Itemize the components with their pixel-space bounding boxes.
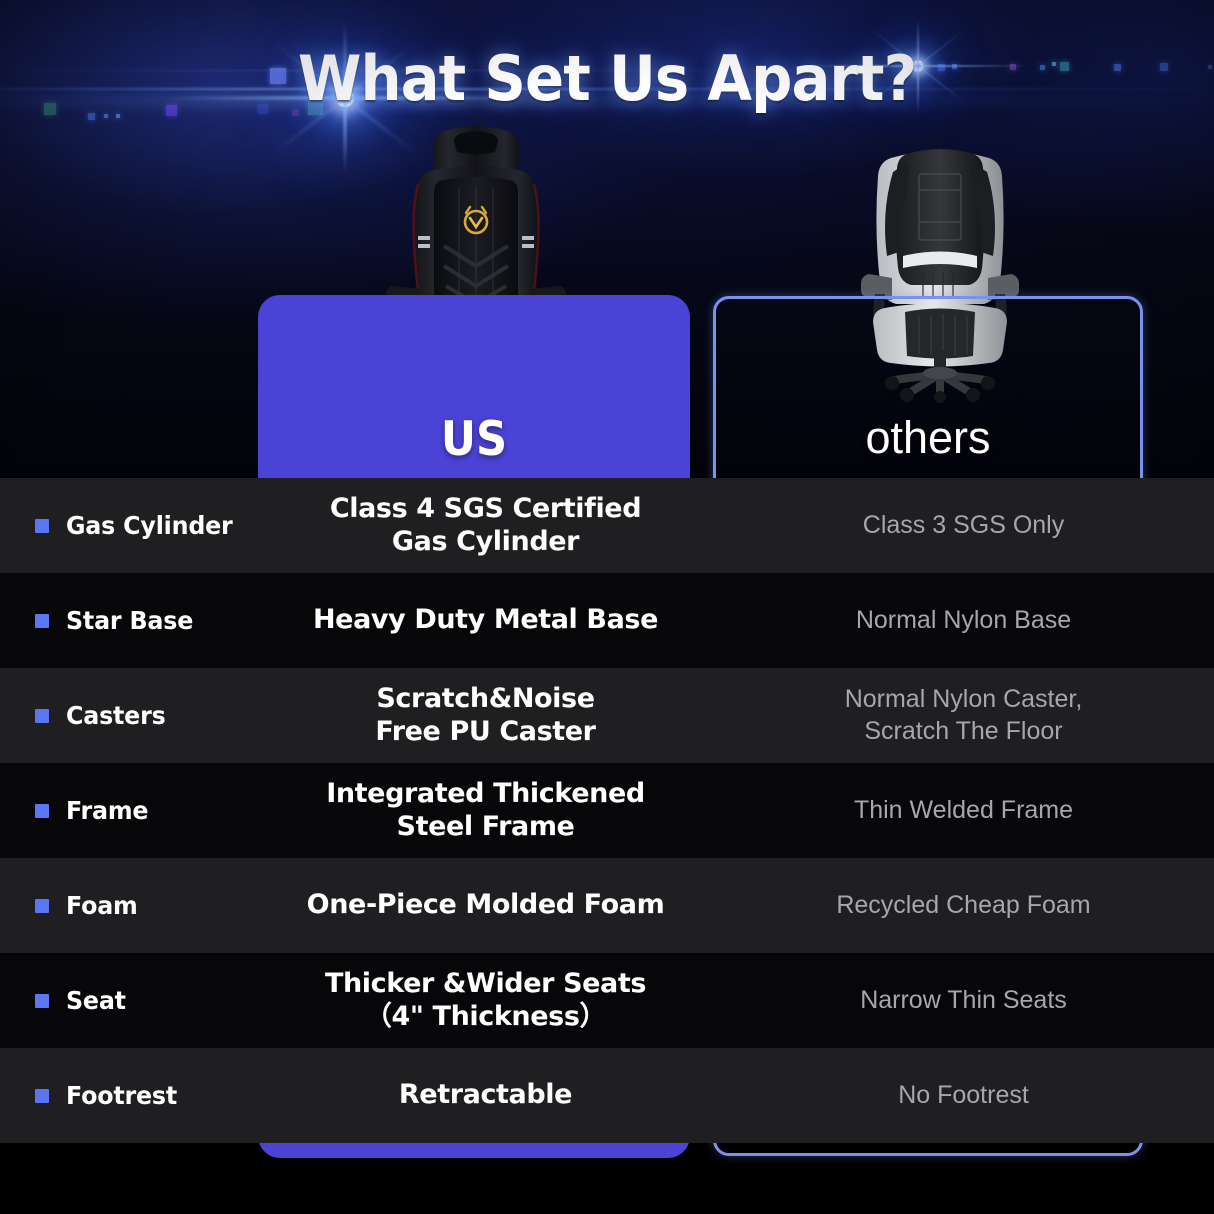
table-row: CastersScratch&NoiseFree PU CasterNormal… (0, 668, 1214, 763)
us-value: Thicker &Wider Seats（4" Thickness） (325, 968, 646, 1032)
infographic-canvas: What Set Us Apart? (0, 0, 1214, 1214)
us-value-cell: Heavy Duty Metal Base (258, 604, 713, 637)
us-value: Integrated ThickenedSteel Frame (326, 778, 645, 842)
us-value: Heavy Duty Metal Base (313, 604, 658, 635)
bullet-square-icon (35, 519, 49, 533)
feature-cell: Foam (0, 891, 258, 920)
table-row: FrameIntegrated ThickenedSteel FrameThin… (0, 763, 1214, 858)
others-value-cell: Narrow Thin Seats (713, 985, 1214, 1016)
others-value-cell: Class 3 SGS Only (713, 510, 1214, 541)
table-row: SeatThicker &Wider Seats（4" Thickness）Na… (0, 953, 1214, 1048)
others-value-cell: Thin Welded Frame (713, 795, 1214, 826)
us-value: Class 4 SGS CertifiedGas Cylinder (330, 493, 641, 557)
others-value: No Footrest (898, 1081, 1029, 1109)
feature-cell: Frame (0, 796, 258, 825)
feature-cell: Gas Cylinder (0, 511, 258, 540)
feature-label: Casters (66, 701, 166, 730)
feature-label: Footrest (66, 1081, 177, 1110)
us-value-cell: Integrated ThickenedSteel Frame (258, 778, 713, 844)
feature-label: Star Base (66, 606, 193, 635)
others-value-cell: No Footrest (713, 1080, 1214, 1111)
feature-cell: Seat (0, 986, 258, 1015)
us-value: One-Piece Molded Foam (307, 889, 665, 920)
us-value-cell: Scratch&NoiseFree PU Caster (258, 683, 713, 749)
bullet-square-icon (35, 614, 49, 628)
us-value-cell: Thicker &Wider Seats（4" Thickness） (258, 968, 713, 1034)
others-value-cell: Recycled Cheap Foam (713, 890, 1214, 921)
others-value-cell: Normal Nylon Caster,Scratch The Floor (713, 684, 1214, 747)
others-value: Normal Nylon Caster,Scratch The Floor (845, 685, 1083, 744)
feature-cell: Casters (0, 701, 258, 730)
bullet-square-icon (35, 709, 49, 723)
us-column-header: US (275, 412, 672, 467)
others-value: Class 3 SGS Only (863, 511, 1064, 539)
bullet-square-icon (35, 899, 49, 913)
feature-label: Frame (66, 796, 148, 825)
feature-label: Gas Cylinder (66, 511, 233, 540)
us-value-cell: Class 4 SGS CertifiedGas Cylinder (258, 493, 713, 559)
us-value-cell: One-Piece Molded Foam (258, 889, 713, 922)
table-row: FootrestRetractableNo Footrest (0, 1048, 1214, 1143)
others-value: Normal Nylon Base (856, 606, 1071, 634)
table-row: Gas CylinderClass 4 SGS CertifiedGas Cyl… (0, 478, 1214, 573)
table-row: Star BaseHeavy Duty Metal BaseNormal Nyl… (0, 573, 1214, 668)
feature-label: Foam (66, 891, 138, 920)
bullet-square-icon (35, 994, 49, 1008)
table-row: FoamOne-Piece Molded FoamRecycled Cheap … (0, 858, 1214, 953)
feature-label: Seat (66, 986, 126, 1015)
bullet-square-icon (35, 1089, 49, 1103)
us-value-cell: Retractable (258, 1079, 713, 1112)
feature-cell: Star Base (0, 606, 258, 635)
others-value: Thin Welded Frame (854, 796, 1073, 824)
feature-cell: Footrest (0, 1081, 258, 1110)
others-value: Recycled Cheap Foam (836, 891, 1090, 919)
others-column-header: others (713, 412, 1143, 464)
us-value: Retractable (399, 1079, 572, 1110)
comparison-table: Gas CylinderClass 4 SGS CertifiedGas Cyl… (0, 478, 1214, 1143)
others-value: Narrow Thin Seats (860, 986, 1067, 1014)
bullet-square-icon (35, 804, 49, 818)
others-value-cell: Normal Nylon Base (713, 605, 1214, 636)
us-value: Scratch&NoiseFree PU Caster (375, 683, 595, 747)
